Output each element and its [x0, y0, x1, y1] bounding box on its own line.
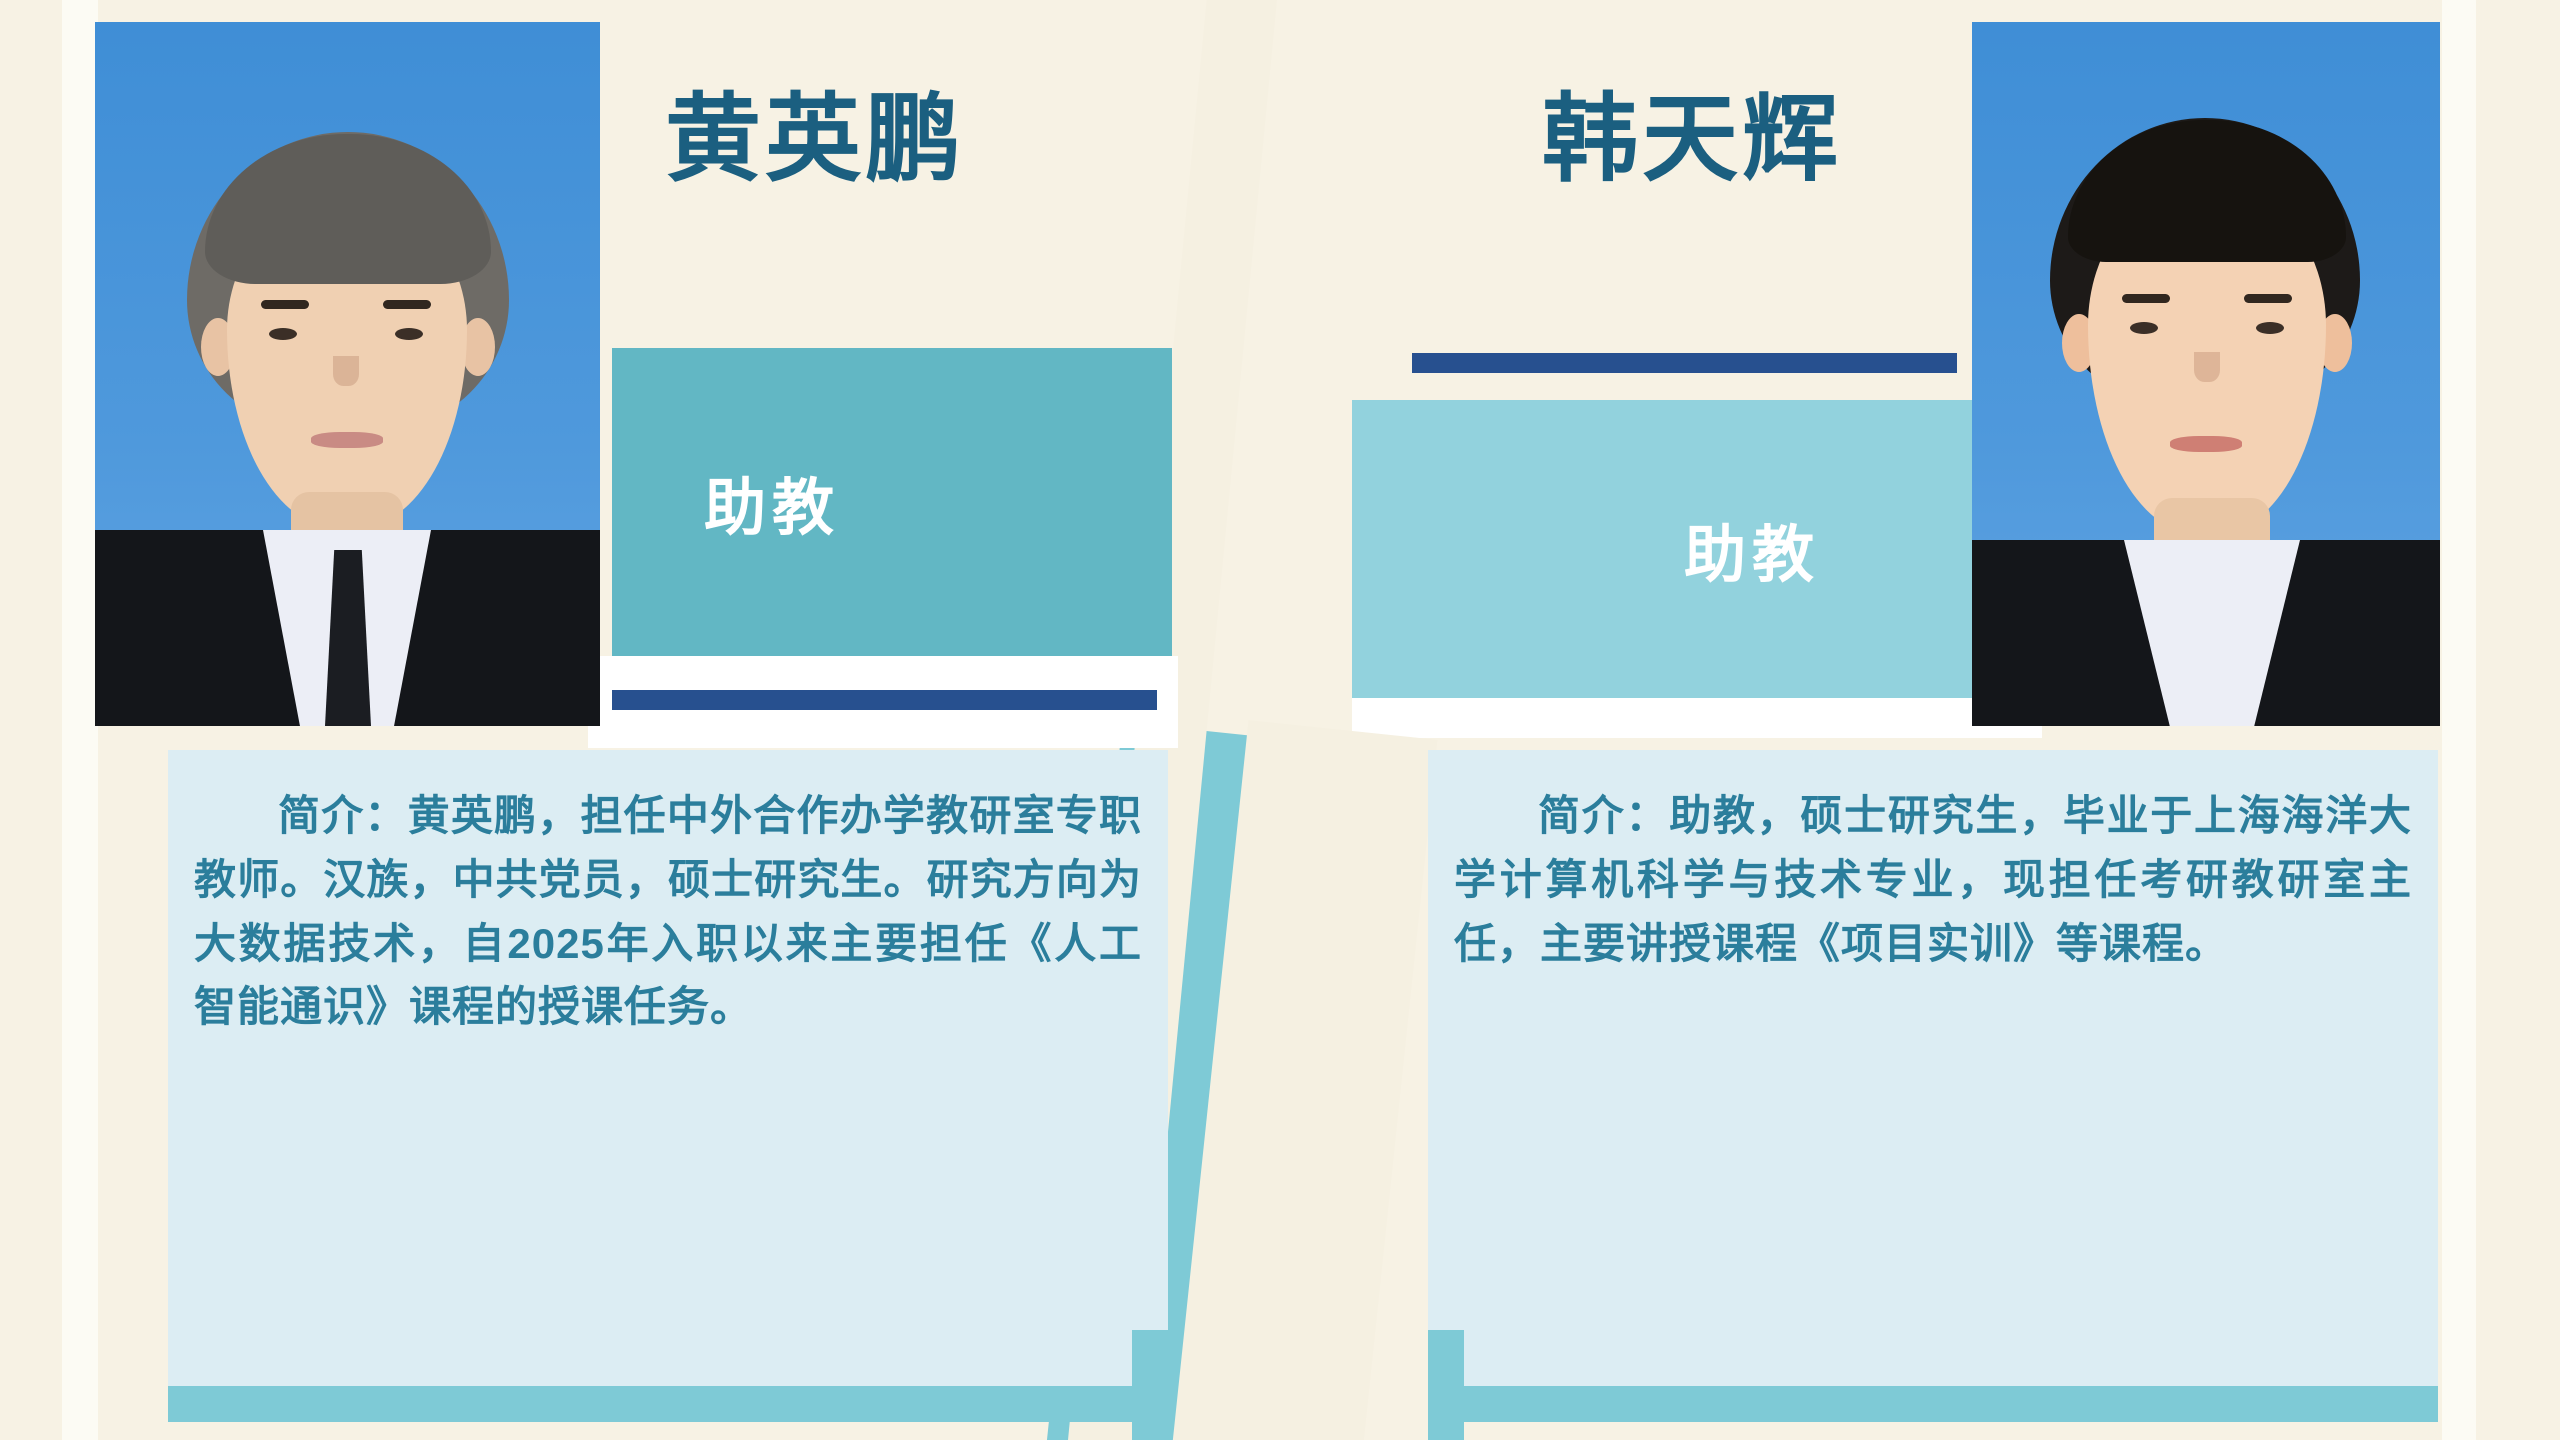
eye-left	[2130, 322, 2158, 334]
faculty-profile-slide: 黄英鹏 助教 简介：黄英鹏，担任中外合作办学教研室专职教师。汉族，中共党员，硕士…	[0, 0, 2560, 1440]
bio-card-right: 简介：助教，硕士研究生，毕业于上海海洋大学计算机科学与技术专业，现担任考研教研室…	[1428, 750, 2438, 1422]
eyebrow-left	[261, 300, 309, 309]
navy-rule-left	[612, 690, 1157, 710]
profile-name-right: 韩天辉	[1542, 92, 1842, 188]
eyebrow-left	[2122, 294, 2170, 303]
eyebrow-right	[383, 300, 431, 309]
eye-right	[395, 328, 423, 340]
role-block-left: 助教	[612, 348, 1172, 656]
role-block-right: 助教	[1352, 400, 2032, 698]
portrait-illustration-left	[95, 22, 600, 726]
side-accent-right	[1428, 1330, 1464, 1440]
profile-name-left: 黄英鹏	[665, 92, 965, 188]
portrait-illustration-right	[1972, 22, 2440, 726]
eyebrow-right	[2244, 294, 2292, 303]
right-white-gap	[1352, 698, 2042, 738]
profile-photo-right	[1972, 22, 2440, 726]
role-label-left: 助教	[704, 457, 840, 547]
eye-right	[2256, 322, 2284, 334]
bio-text-left: 简介：黄英鹏，担任中外合作办学教研室专职教师。汉族，中共党员，硕士研究生。研究方…	[194, 784, 1142, 1039]
bottom-accent-right	[1428, 1386, 2438, 1422]
page-right-margin	[2442, 0, 2476, 1440]
navy-rule-right	[1412, 353, 1957, 373]
mouth-shape	[311, 432, 383, 448]
mouth-shape	[2170, 436, 2242, 452]
bio-text-right: 简介：助教，硕士研究生，毕业于上海海洋大学计算机科学与技术专业，现担任考研教研室…	[1454, 784, 2412, 975]
nose-shape	[2194, 352, 2220, 382]
bottom-accent-left	[168, 1386, 1168, 1422]
page-left-margin	[62, 0, 98, 1440]
role-label-right: 助教	[1684, 504, 1820, 594]
bio-card-left: 简介：黄英鹏，担任中外合作办学教研室专职教师。汉族，中共党员，硕士研究生。研究方…	[168, 750, 1168, 1422]
nose-shape	[333, 356, 359, 386]
eye-left	[269, 328, 297, 340]
side-accent-left	[1132, 1330, 1168, 1440]
profile-photo-left	[95, 22, 600, 726]
